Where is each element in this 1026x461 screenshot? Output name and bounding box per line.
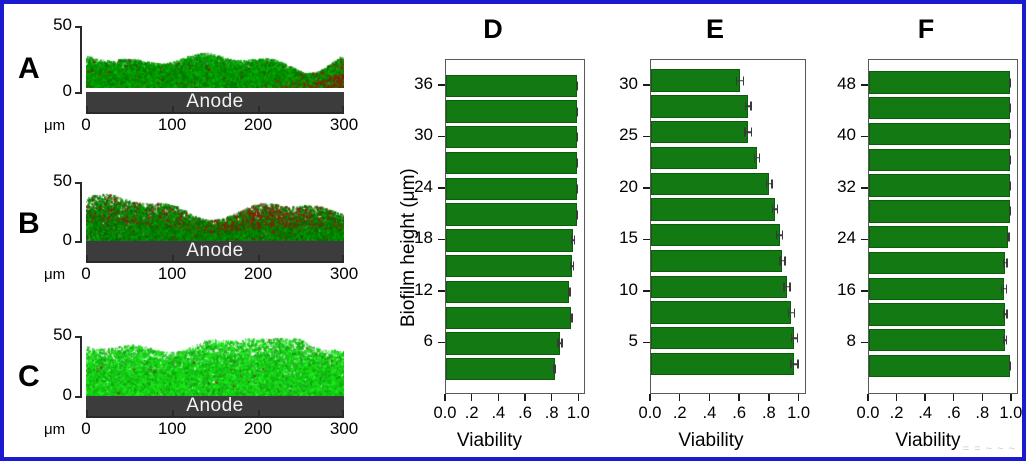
- x-axis-tick: [896, 394, 898, 401]
- y-axis-tick-label: 24: [820, 228, 856, 248]
- bar: [446, 358, 555, 380]
- error-bar: [576, 203, 578, 225]
- error-bar: [779, 250, 786, 272]
- confocal-x-unit-label: μm: [44, 117, 65, 134]
- error-bar: [776, 224, 783, 246]
- bar: [869, 174, 1010, 196]
- bar: [446, 152, 577, 174]
- panel-title-f: F: [826, 14, 1026, 45]
- x-axis-title: Viability: [826, 430, 1026, 452]
- error-bar: [1003, 303, 1008, 325]
- bar: [446, 229, 573, 251]
- error-bar: [788, 301, 795, 323]
- y-axis-tick-label: 48: [820, 74, 856, 94]
- anode-label: Anode: [186, 91, 243, 113]
- y-axis-tick-label: 36: [397, 74, 433, 94]
- x-axis-tick: [578, 394, 580, 401]
- x-axis-tick: [551, 394, 553, 401]
- anode-substrate-bar: Anode: [86, 92, 344, 112]
- x-axis-tick: [924, 394, 926, 401]
- confocal-x-unit-label: μm: [44, 421, 65, 438]
- confocal-x-tick-label: 200: [236, 264, 280, 284]
- bar: [446, 255, 572, 277]
- error-bar: [577, 152, 579, 174]
- bar: [869, 226, 1008, 248]
- confocal-x-tick-label: 200: [236, 419, 280, 439]
- panel-letter-b: B: [18, 209, 40, 239]
- confocal-x-tick-label: 100: [150, 419, 194, 439]
- y-axis-tick: [438, 187, 445, 189]
- x-axis-tick: [953, 394, 955, 401]
- bar: [869, 71, 1010, 93]
- confocal-biofilm-image: [86, 182, 344, 244]
- error-bar: [571, 229, 575, 251]
- y-axis-tick: [861, 187, 868, 189]
- x-axis-tick: [738, 394, 740, 401]
- panel-letter-c: C: [18, 362, 40, 392]
- bar: [869, 355, 1010, 377]
- y-axis-tick-label: 8: [820, 331, 856, 351]
- error-bar: [745, 95, 752, 117]
- y-axis-tick-label: 40: [820, 125, 856, 145]
- x-axis-tick: [444, 394, 446, 401]
- x-axis-tick: [768, 394, 770, 401]
- y-axis-tick: [643, 187, 650, 189]
- bar: [446, 332, 560, 354]
- x-axis-tick: [982, 394, 984, 401]
- figure-root: A500Anode0100200300μmB500Anode0100200300…: [0, 0, 1026, 461]
- error-bar: [1003, 252, 1008, 274]
- x-axis-tick-label: 1.0: [991, 404, 1026, 423]
- y-axis-tick-label: 25: [602, 125, 638, 145]
- x-axis-tick: [709, 394, 711, 401]
- bar: [869, 329, 1005, 351]
- x-axis-tick: [649, 394, 651, 401]
- x-axis-tick: [471, 394, 473, 401]
- y-axis-tick-label: 30: [602, 74, 638, 94]
- bar: [869, 97, 1010, 119]
- confocal-x-axis: [86, 261, 344, 263]
- confocal-biofilm-image: [86, 336, 344, 398]
- x-axis-tick-label: 1.0: [558, 404, 598, 423]
- y-axis-tick: [438, 342, 445, 344]
- bar: [446, 178, 577, 200]
- error-bar: [1009, 71, 1011, 93]
- anode-substrate-bar: Anode: [86, 396, 344, 416]
- bar: [446, 281, 569, 303]
- bar-chart-panel-f: F816243240480.0.2.4.6.81.0Viability: [826, 14, 1026, 461]
- confocal-x-tick: [86, 410, 88, 416]
- x-axis-tick: [679, 394, 681, 401]
- y-axis-tick-label: 30: [397, 125, 433, 145]
- bar: [651, 69, 740, 91]
- y-axis-tick: [643, 239, 650, 241]
- y-axis-tick-label: 5: [602, 331, 638, 351]
- x-axis-tick: [498, 394, 500, 401]
- x-axis-tick-label: 1.0: [779, 404, 819, 423]
- plot-area: [868, 59, 1018, 394]
- y-axis-tick: [861, 342, 868, 344]
- x-axis-tick: [524, 394, 526, 401]
- confocal-x-tick: [86, 106, 88, 112]
- confocal-x-tick: [342, 106, 344, 112]
- confocal-x-tick: [258, 255, 260, 261]
- confocal-y-tick-label: 0: [32, 230, 72, 250]
- y-axis-tick: [438, 290, 445, 292]
- bar: [446, 203, 577, 225]
- plot-area: [445, 59, 585, 394]
- error-bar: [1003, 329, 1007, 351]
- bar: [651, 301, 791, 323]
- x-axis-tick: [867, 394, 869, 401]
- confocal-y-tick-label: 50: [32, 15, 72, 35]
- panel-title-e: E: [604, 14, 826, 45]
- confocal-panel-a: A500Anode0100200300μm: [4, 4, 384, 461]
- confocal-x-tick-label: 0: [64, 115, 108, 135]
- confocal-x-axis: [86, 416, 344, 418]
- bar: [651, 121, 748, 143]
- error-bar: [577, 126, 579, 148]
- confocal-panel-c: C500Anode0100200300μm: [4, 4, 384, 461]
- y-axis-tick-label: 20: [602, 177, 638, 197]
- confocal-x-unit-label: μm: [44, 266, 65, 283]
- confocal-y-tick-label: 50: [32, 325, 72, 345]
- confocal-x-tick-label: 0: [64, 419, 108, 439]
- confocal-y-tick: [75, 241, 82, 243]
- confocal-x-tick: [342, 255, 344, 261]
- confocal-x-tick: [342, 410, 344, 416]
- bar: [651, 327, 794, 349]
- y-axis-tick-label: 15: [602, 228, 638, 248]
- confocal-x-tick: [86, 255, 88, 261]
- error-bar: [1009, 149, 1011, 171]
- error-bar: [577, 178, 579, 200]
- confocal-y-axis: [80, 26, 82, 92]
- error-bar: [1007, 226, 1010, 248]
- bar: [446, 126, 577, 148]
- error-bar: [744, 121, 752, 143]
- y-axis-tick: [643, 136, 650, 138]
- confocal-x-tick-label: 100: [150, 115, 194, 135]
- error-bar: [766, 173, 773, 195]
- x-axis-tick: [798, 394, 800, 401]
- plot-area: [650, 59, 806, 394]
- bar: [446, 75, 577, 97]
- y-axis-tick: [861, 136, 868, 138]
- bar: [869, 200, 1010, 222]
- confocal-x-tick: [172, 255, 174, 261]
- confocal-x-tick: [172, 106, 174, 112]
- x-axis-title: Viability: [382, 430, 597, 452]
- y-axis-tick: [861, 84, 868, 86]
- error-bar: [791, 327, 798, 349]
- error-bar: [783, 276, 790, 298]
- bar: [651, 353, 794, 375]
- confocal-y-tick: [75, 26, 82, 28]
- bar: [869, 303, 1005, 325]
- error-bar: [1009, 200, 1011, 222]
- confocal-x-tick-label: 100: [150, 264, 194, 284]
- panel-title-d: D: [382, 14, 604, 45]
- confocal-x-tick-label: 300: [322, 115, 366, 135]
- confocal-x-tick: [258, 106, 260, 112]
- bar: [869, 252, 1005, 274]
- bar: [869, 123, 1010, 145]
- y-axis-tick: [438, 136, 445, 138]
- bar: [446, 100, 577, 122]
- bar: [651, 147, 757, 169]
- error-bar: [754, 147, 761, 169]
- bar: [651, 95, 748, 117]
- confocal-y-tick: [75, 92, 82, 94]
- y-axis-title: Biofilm height (μm): [398, 168, 420, 327]
- panel-letter-a: A: [18, 54, 40, 84]
- error-bar: [1001, 278, 1007, 300]
- bar-chart-panel-d: D612182430360.0.2.4.6.81.0ViabilityBiofi…: [382, 14, 604, 461]
- confocal-y-tick: [75, 336, 82, 338]
- anode-label: Anode: [186, 240, 243, 262]
- bar: [869, 149, 1010, 171]
- anode-label: Anode: [186, 395, 243, 417]
- bar: [651, 250, 782, 272]
- x-axis-tick: [1010, 394, 1012, 401]
- confocal-y-axis: [80, 182, 82, 241]
- error-bar: [772, 198, 779, 220]
- confocal-x-tick: [258, 410, 260, 416]
- error-bar: [1009, 123, 1011, 145]
- y-axis-tick: [438, 239, 445, 241]
- error-bar: [1009, 97, 1011, 119]
- confocal-y-tick: [75, 396, 82, 398]
- y-axis-tick: [643, 342, 650, 344]
- bar: [446, 307, 571, 329]
- confocal-x-tick-label: 300: [322, 264, 366, 284]
- bar: [869, 278, 1004, 300]
- bar: [651, 173, 769, 195]
- error-bar: [1009, 355, 1011, 377]
- y-axis-tick: [438, 84, 445, 86]
- confocal-x-tick-label: 300: [322, 419, 366, 439]
- anode-substrate-bar: Anode: [86, 241, 344, 261]
- confocal-biofilm-image: [86, 26, 344, 88]
- confocal-x-tick: [172, 410, 174, 416]
- confocal-panel-b: B500Anode0100200300μm: [4, 4, 384, 461]
- confocal-y-tick-label: 0: [32, 81, 72, 101]
- error-bar: [568, 281, 571, 303]
- confocal-y-tick: [75, 182, 82, 184]
- bar: [651, 276, 787, 298]
- error-bar: [570, 307, 573, 329]
- y-axis-tick-label: 6: [397, 331, 433, 351]
- error-bar: [570, 255, 574, 277]
- y-axis-tick: [861, 239, 868, 241]
- y-axis-tick: [643, 290, 650, 292]
- x-axis-title: Viability: [604, 430, 818, 452]
- confocal-y-tick-label: 50: [32, 171, 72, 191]
- bar-chart-panel-e: E510152025300.0.2.4.6.81.0Viability: [604, 14, 826, 461]
- y-axis-tick-label: 10: [602, 280, 638, 300]
- figure-canvas: A500Anode0100200300μmB500Anode0100200300…: [4, 4, 1022, 457]
- y-axis-tick: [861, 290, 868, 292]
- confocal-x-axis: [86, 112, 344, 114]
- confocal-y-axis: [80, 336, 82, 396]
- error-bar: [736, 69, 744, 91]
- error-bar: [553, 358, 556, 380]
- y-axis-tick: [643, 84, 650, 86]
- bar: [651, 198, 775, 220]
- confocal-x-tick-label: 0: [64, 264, 108, 284]
- y-axis-tick-label: 32: [820, 177, 856, 197]
- error-bar: [790, 353, 798, 375]
- error-bar: [1009, 174, 1011, 196]
- error-bar: [577, 100, 579, 122]
- error-bar: [577, 75, 579, 97]
- bar: [651, 224, 780, 246]
- confocal-y-tick-label: 0: [32, 385, 72, 405]
- confocal-x-tick-label: 200: [236, 115, 280, 135]
- y-axis-tick-label: 16: [820, 280, 856, 300]
- error-bar: [557, 332, 562, 354]
